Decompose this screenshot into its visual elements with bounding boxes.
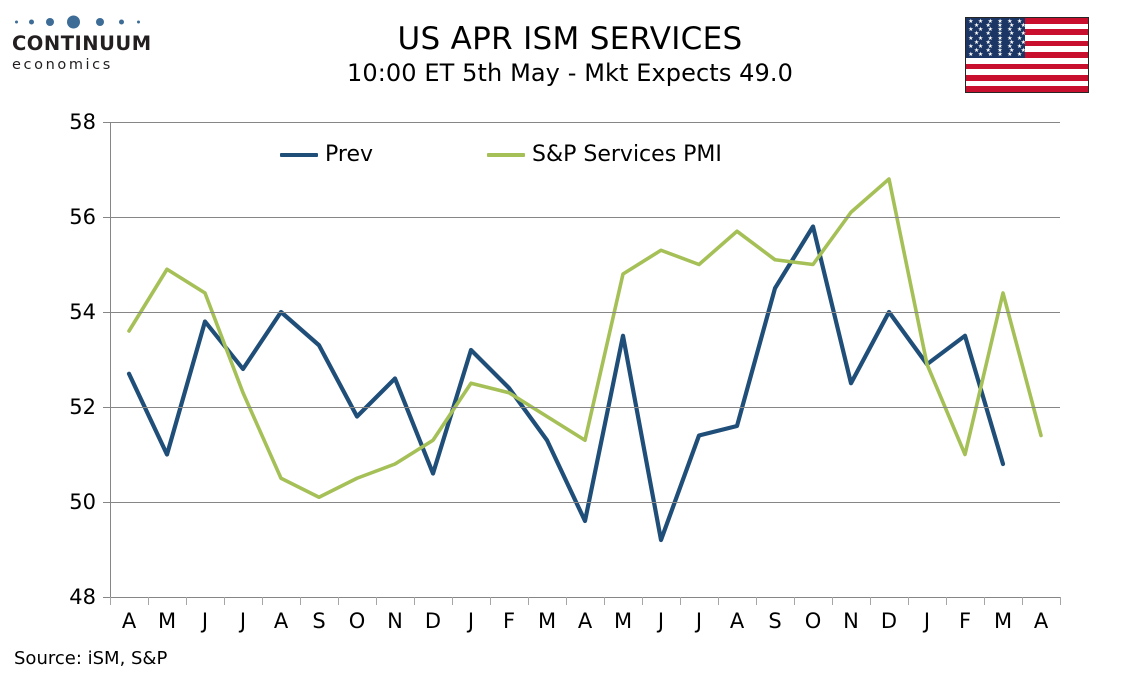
y-axis-tick (103, 407, 110, 408)
source-note: Source: iSM, S&P (14, 648, 167, 669)
x-axis-tick (528, 597, 529, 605)
x-axis-tick (148, 597, 149, 605)
x-axis-tick (680, 597, 681, 605)
x-axis-tick-label: M (994, 609, 1012, 633)
x-axis-tick (300, 597, 301, 605)
flag-canton: ★★★★★★★★★★★★★★★★★★★★★★★★★★★★★★★★★★★★★★★★… (966, 18, 1025, 58)
x-axis-tick-label: J (924, 609, 930, 633)
x-axis-tick-label: N (387, 609, 403, 633)
x-axis-tick-label: J (468, 609, 474, 633)
x-axis-tick-label: A (274, 609, 288, 633)
x-axis-tick (566, 597, 567, 605)
x-axis-tick (338, 597, 339, 605)
plot-area (110, 122, 1060, 597)
x-axis-tick-label: D (881, 609, 897, 633)
x-axis-tick-label: F (959, 609, 971, 633)
grid-line (110, 407, 1060, 408)
chart-lines (110, 122, 1060, 597)
x-axis-tick (224, 597, 225, 605)
logo-dots (12, 12, 144, 32)
x-axis-tick-label: A (1034, 609, 1048, 633)
x-axis-tick-label: F (503, 609, 515, 633)
x-axis-tick (452, 597, 453, 605)
x-axis-tick-label: J (202, 609, 208, 633)
x-axis-tick (946, 597, 947, 605)
grid-line (110, 217, 1060, 218)
x-axis-tick-label: D (425, 609, 441, 633)
grid-line (110, 122, 1060, 123)
x-axis-tick-label: A (730, 609, 744, 633)
x-axis-tick (908, 597, 909, 605)
x-axis-tick-label: J (240, 609, 246, 633)
x-axis-tick-label: S (312, 609, 325, 633)
us-flag-icon: ★★★★★★★★★★★★★★★★★★★★★★★★★★★★★★★★★★★★★★★★… (965, 17, 1089, 93)
y-axis-tick (103, 217, 110, 218)
x-axis-tick (1060, 597, 1061, 605)
x-axis-tick (414, 597, 415, 605)
x-axis-tick (490, 597, 491, 605)
x-axis-tick-label: A (122, 609, 136, 633)
y-axis-tick (103, 597, 110, 598)
y-axis-tick (103, 502, 110, 503)
x-axis-tick (984, 597, 985, 605)
flag-stripe (966, 75, 1088, 81)
title-block: US APR ISM SERVICES 10:00 ET 5th May - M… (200, 20, 940, 89)
x-axis-tick (756, 597, 757, 605)
continuum-logo: CONTINUUM economics (12, 12, 152, 84)
grid-line (110, 502, 1060, 503)
x-axis-labels: AMJJASONDJFMAMJJASONDJFMA (110, 597, 1061, 637)
x-axis-tick (718, 597, 719, 605)
y-axis-tick-label: 58 (44, 110, 96, 134)
x-axis-tick-label: J (658, 609, 664, 633)
y-axis-tick-label: 56 (44, 205, 96, 229)
flag-stripe (966, 64, 1088, 70)
y-axis-tick-label: 50 (44, 490, 96, 514)
y-axis-tick-label: 52 (44, 395, 96, 419)
y-axis-tick-label: 48 (44, 585, 96, 609)
y-axis-tick (103, 122, 110, 123)
x-axis-tick (604, 597, 605, 605)
x-axis-tick (110, 597, 111, 605)
x-axis-tick-label: M (158, 609, 176, 633)
x-axis-tick-label: M (538, 609, 556, 633)
grid-line (110, 312, 1060, 313)
x-axis-tick (376, 597, 377, 605)
x-axis-tick (262, 597, 263, 605)
x-axis-tick-label: M (614, 609, 632, 633)
page-subtitle: 10:00 ET 5th May - Mkt Expects 49.0 (200, 58, 940, 89)
x-axis-tick-label: S (768, 609, 781, 633)
x-axis-tick (870, 597, 871, 605)
x-axis-tick-label: A (578, 609, 592, 633)
x-axis-tick-label: J (696, 609, 702, 633)
y-axis-tick (103, 312, 110, 313)
logo-wordmark: CONTINUUM (12, 33, 152, 55)
x-axis-tick-label: N (843, 609, 859, 633)
x-axis-tick (1022, 597, 1023, 605)
logo-tagline: economics (12, 56, 152, 74)
x-axis-tick (642, 597, 643, 605)
flag-stripe (966, 86, 1088, 92)
chart-area: Prev S&P Services PMI 485052545658 AMJJA… (0, 100, 1134, 640)
series-line-prev (129, 227, 1003, 541)
x-axis-tick (832, 597, 833, 605)
x-axis-tick (186, 597, 187, 605)
x-axis-tick-label: O (349, 609, 366, 633)
x-axis-tick-label: O (805, 609, 822, 633)
page-title: US APR ISM SERVICES (200, 20, 940, 58)
x-axis-tick (794, 597, 795, 605)
y-axis-tick-label: 54 (44, 300, 96, 324)
